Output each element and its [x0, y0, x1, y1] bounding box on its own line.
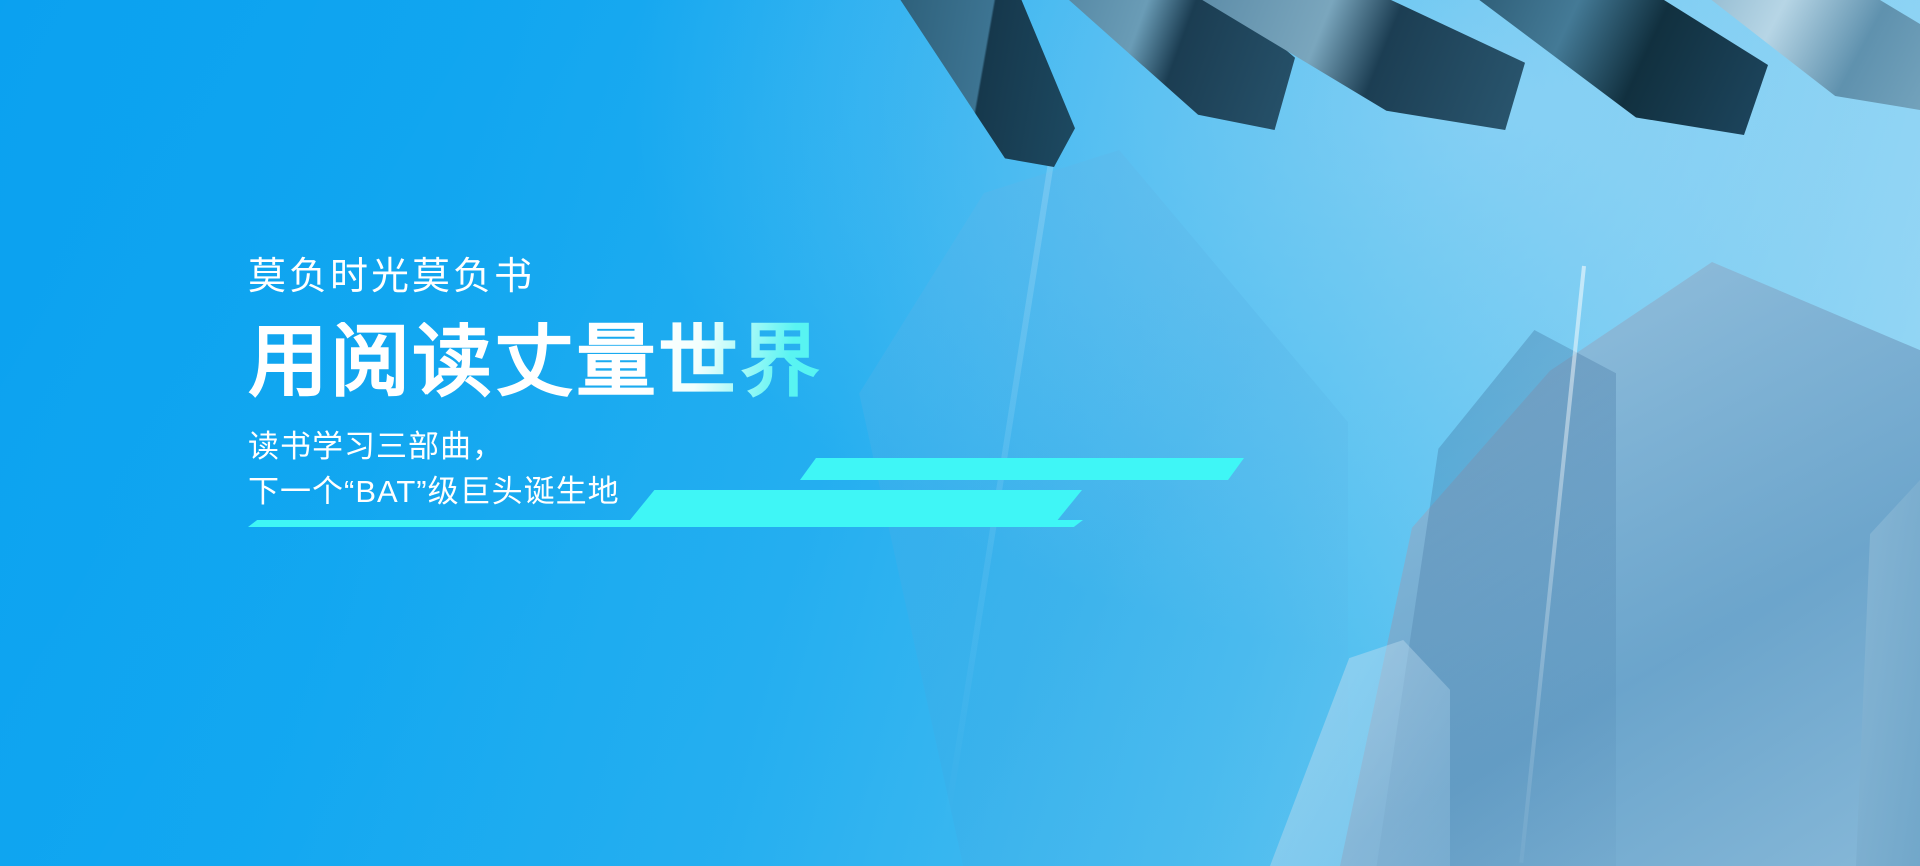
hero-eyebrow: 莫负时光莫负书: [248, 258, 1148, 296]
right-tower-ridge-highlight: [1519, 266, 1586, 863]
hero-headline: 用阅读丈量世界: [248, 322, 1148, 402]
hero-subcopy: 读书学习三部曲， 下一个“BAT”级巨头诞生地: [248, 424, 1148, 515]
building-beam-2: [1040, 0, 1295, 130]
accent-underline: [248, 520, 1083, 527]
building-beam-4: [1468, 0, 1768, 135]
right-tower-image: [1340, 262, 1920, 866]
building-beam-1: [900, 0, 1075, 167]
building-beam-5: [1700, 0, 1920, 120]
building-beam-3: [1195, 0, 1525, 130]
hero-copy-block: 莫负时光莫负书 用阅读丈量世界 读书学习三部曲， 下一个“BAT”级巨头诞生地: [248, 258, 1148, 515]
hero-banner: 莫负时光莫负书 用阅读丈量世界 读书学习三部曲， 下一个“BAT”级巨头诞生地: [0, 0, 1920, 866]
right-tower-shadow-face: [1376, 330, 1616, 866]
far-right-tower-image: [1856, 480, 1920, 866]
lower-tower-image: [1270, 640, 1450, 866]
